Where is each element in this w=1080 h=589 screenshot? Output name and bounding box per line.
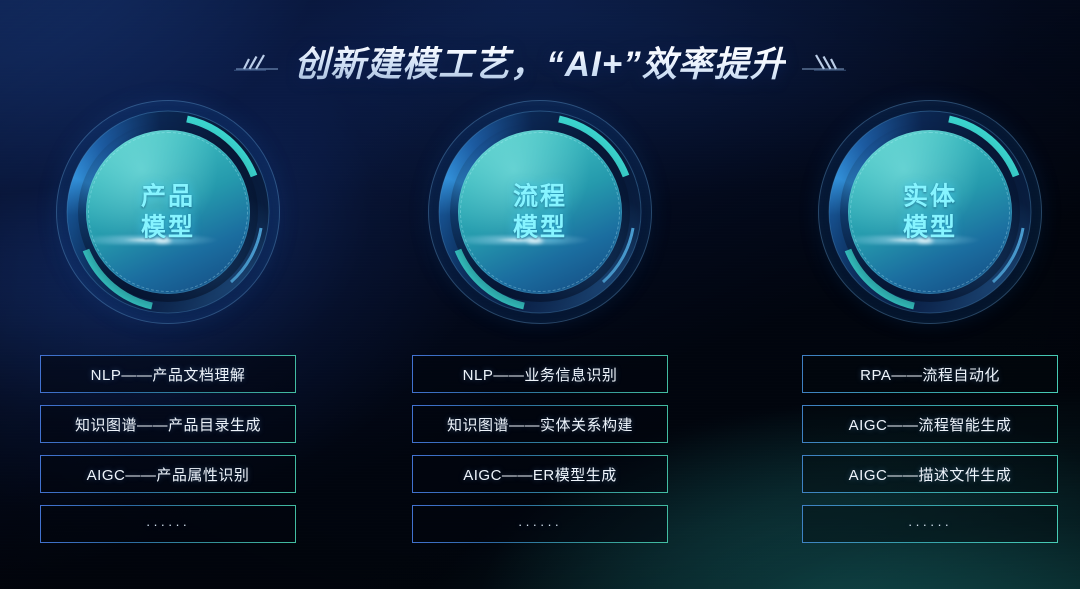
circle-label-line1: 产品 <box>141 183 195 211</box>
page-title: 创新建模工艺，“AI+”效率提升 <box>294 36 785 87</box>
list-item[interactable]: AIGC——描述文件生成 <box>802 455 1058 493</box>
slash-lines-left-icon <box>234 47 280 77</box>
circle-label: 流程 模型 <box>428 182 652 243</box>
slide-title-row: 创新建模工艺，“AI+”效率提升 <box>0 36 1080 87</box>
circle-badge-process-model[interactable]: 流程 模型 <box>428 100 652 324</box>
list-item[interactable]: NLP——产品文档理解 <box>40 355 296 393</box>
circle-label-line2: 模型 <box>56 212 280 243</box>
slash-lines-right-icon <box>800 47 846 77</box>
circle-badge-entity-model[interactable]: 实体 模型 <box>818 100 1042 324</box>
list-item-more[interactable]: ······ <box>802 505 1058 543</box>
list-item-label: ······ <box>908 517 952 532</box>
list-item-label: AIGC——ER模型生成 <box>463 464 617 485</box>
list-item-label: NLP——产品文档理解 <box>91 364 246 385</box>
list-item[interactable]: AIGC——ER模型生成 <box>412 455 668 493</box>
slide-canvas: 创新建模工艺，“AI+”效率提升 <box>0 0 1080 589</box>
columns-container: 产品 模型 NLP——产品文档理解 知识图谱——产品目录生成 AIGC——产品属… <box>0 0 1080 589</box>
list-item[interactable]: 知识图谱——产品目录生成 <box>40 405 296 443</box>
circle-label-line2: 模型 <box>818 212 1042 243</box>
circle-badge-product-model[interactable]: 产品 模型 <box>56 100 280 324</box>
column-entity-model: 实体 模型 RPA——流程自动化 AIGC——流程智能生成 AIGC——描述文件… <box>780 0 1080 589</box>
list-item-label: AIGC——描述文件生成 <box>849 464 1012 485</box>
column-product-model: 产品 模型 NLP——产品文档理解 知识图谱——产品目录生成 AIGC——产品属… <box>18 0 318 589</box>
list-item-label: NLP——业务信息识别 <box>463 364 618 385</box>
circle-label-line2: 模型 <box>428 212 652 243</box>
column-process-model: 流程 模型 NLP——业务信息识别 知识图谱——实体关系构建 AIGC——ER模… <box>390 0 690 589</box>
circle-label: 实体 模型 <box>818 182 1042 243</box>
list-item[interactable]: AIGC——流程智能生成 <box>802 405 1058 443</box>
list-item-more[interactable]: ······ <box>412 505 668 543</box>
list-item[interactable]: RPA——流程自动化 <box>802 355 1058 393</box>
list-item[interactable]: AIGC——产品属性识别 <box>40 455 296 493</box>
list-item-label: ······ <box>146 517 190 532</box>
list-item[interactable]: 知识图谱——实体关系构建 <box>412 405 668 443</box>
list-item-label: ······ <box>518 517 562 532</box>
circle-label: 产品 模型 <box>56 182 280 243</box>
circle-label-line1: 流程 <box>513 183 567 211</box>
list-item[interactable]: NLP——业务信息识别 <box>412 355 668 393</box>
item-list: NLP——产品文档理解 知识图谱——产品目录生成 AIGC——产品属性识别 ··… <box>40 355 296 555</box>
list-item-more[interactable]: ······ <box>40 505 296 543</box>
list-item-label: AIGC——产品属性识别 <box>87 464 250 485</box>
item-list: NLP——业务信息识别 知识图谱——实体关系构建 AIGC——ER模型生成 ··… <box>412 355 668 555</box>
item-list: RPA——流程自动化 AIGC——流程智能生成 AIGC——描述文件生成 ···… <box>802 355 1058 555</box>
list-item-label: RPA——流程自动化 <box>860 364 1000 385</box>
list-item-label: 知识图谱——产品目录生成 <box>75 414 261 435</box>
circle-label-line1: 实体 <box>903 183 957 211</box>
list-item-label: AIGC——流程智能生成 <box>849 414 1012 435</box>
list-item-label: 知识图谱——实体关系构建 <box>447 414 633 435</box>
